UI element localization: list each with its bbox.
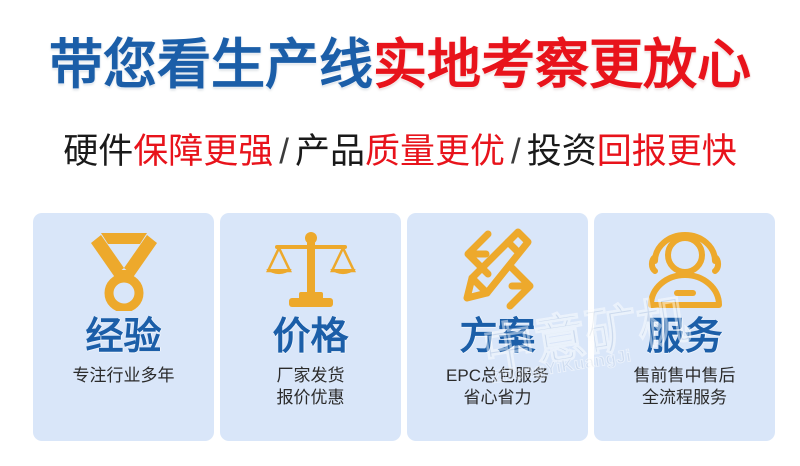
subtitle-part2-red: 质量更优	[365, 132, 505, 171]
feature-card-solution[interactable]: 方案 EPC总包服务 省心省力	[407, 213, 588, 441]
feature-card-title: 方案	[459, 315, 535, 359]
feature-card-desc: 厂家发货 报价优惠	[277, 365, 345, 409]
subtitle-part1-dark: 硬件	[63, 132, 133, 171]
subtitle-separator-2: /	[505, 132, 527, 171]
feature-card-title: 经验	[85, 315, 161, 359]
subtitle-part3-dark: 投资	[527, 132, 597, 171]
pencil-plan-icon	[446, 227, 550, 313]
feature-card-title: 价格	[272, 315, 348, 359]
subtitle-part3-red: 回报更快	[597, 132, 737, 171]
subtitle-part1-red: 保障更强	[133, 132, 273, 171]
feature-card-desc: 售前售中售后 全流程服务	[634, 365, 736, 409]
feature-card-service[interactable]: 服务 售前售中售后 全流程服务	[594, 213, 775, 441]
feature-card-desc: 专注行业多年	[73, 365, 175, 387]
feature-card-price[interactable]: 价格 厂家发货 报价优惠	[220, 213, 401, 441]
subtitle-part2-dark: 产品	[295, 132, 365, 171]
subtitle-separator-1: /	[273, 132, 295, 171]
feature-card-desc: EPC总包服务 省心省力	[446, 365, 549, 409]
headline-red-text: 实地考察更放心	[373, 35, 751, 95]
headset-support-icon	[633, 227, 737, 313]
feature-card-experience[interactable]: 经验 专注行业多年	[33, 213, 214, 441]
headline: 带您看生产线实地考察更放心	[0, 36, 800, 94]
headline-blue-text: 带您看生产线	[49, 35, 373, 95]
promo-banner: 带您看生产线实地考察更放心 硬件保障更强/产品质量更优/投资回报更快 经验	[0, 0, 800, 466]
medal-icon	[72, 227, 176, 313]
subtitle: 硬件保障更强/产品质量更优/投资回报更快	[0, 131, 800, 173]
feature-card-row: 经验 专注行业多年	[33, 213, 775, 441]
balance-scale-icon	[259, 227, 363, 313]
feature-card-title: 服务	[646, 315, 722, 359]
